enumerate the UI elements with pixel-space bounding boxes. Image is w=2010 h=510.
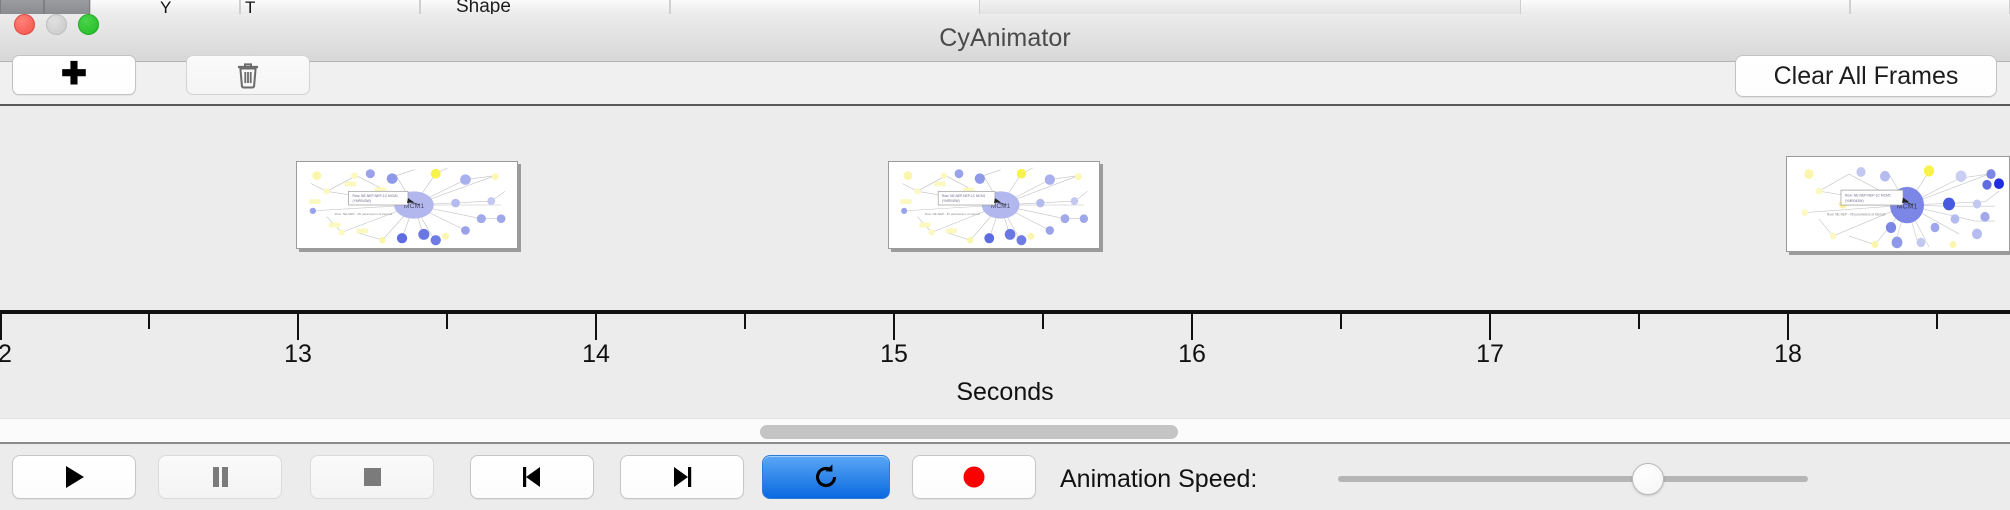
animation-speed-slider-knob[interactable] bbox=[1632, 463, 1664, 495]
svg-text:Row: NE-NEP-NEP-1C MCM1: Row: NE-NEP-NEP-1C MCM1 bbox=[942, 194, 986, 198]
pause-icon bbox=[207, 463, 233, 491]
timeline-pane[interactable]: MCM1 bbox=[0, 108, 2010, 418]
ruler-tick-minor bbox=[446, 314, 448, 329]
ruler-tick-minor bbox=[1638, 314, 1640, 329]
background-chip bbox=[670, 0, 980, 14]
ruler-tick-minor bbox=[744, 314, 746, 329]
ruler-tick-minor bbox=[1340, 314, 1342, 329]
pause-button[interactable] bbox=[158, 455, 282, 499]
svg-text:(YMR043W): (YMR043W) bbox=[1845, 199, 1864, 203]
skip-start-icon bbox=[518, 463, 546, 491]
plus-icon: ✚ bbox=[61, 58, 87, 89]
window-title: CyAnimator bbox=[0, 24, 2010, 53]
ruler-tick-minor bbox=[148, 314, 150, 329]
ruler-tick-major bbox=[297, 314, 299, 340]
ruler-tick-major bbox=[595, 314, 597, 340]
clear-all-frames-button[interactable]: Clear All Frames bbox=[1735, 55, 1997, 97]
record-button[interactable] bbox=[912, 455, 1036, 499]
scrollbar-thumb[interactable] bbox=[760, 425, 1178, 439]
timeline-frame-thumbnail[interactable]: MCM1 bbox=[888, 161, 1100, 249]
ruler-tick-label: 18 bbox=[1774, 340, 1802, 369]
animation-speed-slider[interactable] bbox=[1338, 476, 1808, 482]
playback-control-bar: Animation Speed: bbox=[0, 446, 2010, 510]
background-chip bbox=[44, 0, 90, 14]
delete-frame-button[interactable] bbox=[186, 55, 310, 95]
ruler-tick-label: 2 bbox=[0, 340, 12, 369]
record-icon bbox=[961, 464, 987, 490]
background-chip bbox=[1520, 0, 1850, 14]
network-graph-thumbnail: MCM1 bbox=[889, 162, 1099, 248]
background-chip bbox=[1850, 0, 2010, 14]
svg-text:(YMR043W): (YMR043W) bbox=[352, 199, 370, 203]
ruler-tick-minor bbox=[1936, 314, 1938, 329]
background-chip bbox=[0, 0, 44, 14]
zoom-button[interactable] bbox=[78, 14, 99, 35]
animation-speed-label: Animation Speed: bbox=[1060, 465, 1257, 494]
timeline-frame-thumbnail[interactable]: MCM1 bbox=[1786, 156, 2010, 252]
ruler-tick-label: 15 bbox=[880, 340, 908, 369]
ruler-axis-label: Seconds bbox=[0, 378, 2010, 407]
ruler-tick-major bbox=[1191, 314, 1193, 340]
play-button[interactable] bbox=[12, 455, 136, 499]
ruler-tick-label: 13 bbox=[284, 340, 312, 369]
network-graph-thumbnail: MCM1 bbox=[1787, 157, 2009, 251]
ruler-tick-major bbox=[1489, 314, 1491, 340]
ruler-baseline bbox=[0, 310, 2010, 314]
add-frame-button[interactable]: ✚ bbox=[12, 55, 136, 95]
loop-icon bbox=[811, 462, 841, 492]
skip-to-end-button[interactable] bbox=[620, 455, 744, 499]
ruler-tick-label: 17 bbox=[1476, 340, 1504, 369]
close-button[interactable] bbox=[14, 14, 35, 35]
timeline-frame-thumbnail[interactable]: MCM1 bbox=[296, 161, 518, 249]
skip-end-icon bbox=[668, 463, 696, 491]
background-chip bbox=[240, 0, 420, 14]
svg-text:Row: NE-NEP - 45 parameters of: Row: NE-NEP - 45 parameters of interest bbox=[1827, 213, 1885, 217]
ruler-tick-major bbox=[1787, 314, 1789, 340]
ruler-tick-major bbox=[893, 314, 895, 340]
svg-text:Row: NE-NEP - 45 parameters of: Row: NE-NEP - 45 parameters of interest bbox=[335, 212, 393, 216]
cyanimator-window: Y T Shape CyAnimator ✚ Clear All Frames bbox=[0, 0, 2010, 510]
loop-button[interactable] bbox=[762, 455, 890, 499]
frames-area[interactable]: MCM1 bbox=[0, 108, 2010, 310]
stop-icon bbox=[359, 463, 385, 491]
stop-button[interactable] bbox=[310, 455, 434, 499]
svg-text:Row: NE-NEP-NEP-1C MCM1: Row: NE-NEP-NEP-1C MCM1 bbox=[352, 194, 398, 198]
svg-text:(YMR043W): (YMR043W) bbox=[942, 199, 960, 203]
skip-to-start-button[interactable] bbox=[470, 455, 594, 499]
timeline-horizontal-scrollbar[interactable] bbox=[0, 418, 2010, 444]
ruler-tick-minor bbox=[1042, 314, 1044, 329]
ruler-tick-major bbox=[0, 314, 2, 340]
play-icon bbox=[61, 463, 87, 491]
trash-icon bbox=[235, 61, 261, 89]
minimize-button[interactable] bbox=[46, 14, 67, 35]
traffic-light-group bbox=[14, 14, 99, 35]
svg-text:Row: NE-NEP-NEP-1C MCM1: Row: NE-NEP-NEP-1C MCM1 bbox=[1845, 193, 1891, 197]
timeline-ruler[interactable]: 2 13 14 15 16 17 18 Seconds bbox=[0, 310, 2010, 418]
ruler-tick-label: 14 bbox=[582, 340, 610, 369]
ruler-tick-label: 16 bbox=[1178, 340, 1206, 369]
svg-text:Row: NE-NEP - 45 parameters of: Row: NE-NEP - 45 parameters of interest bbox=[925, 212, 980, 216]
network-graph-thumbnail: MCM1 bbox=[297, 162, 517, 248]
